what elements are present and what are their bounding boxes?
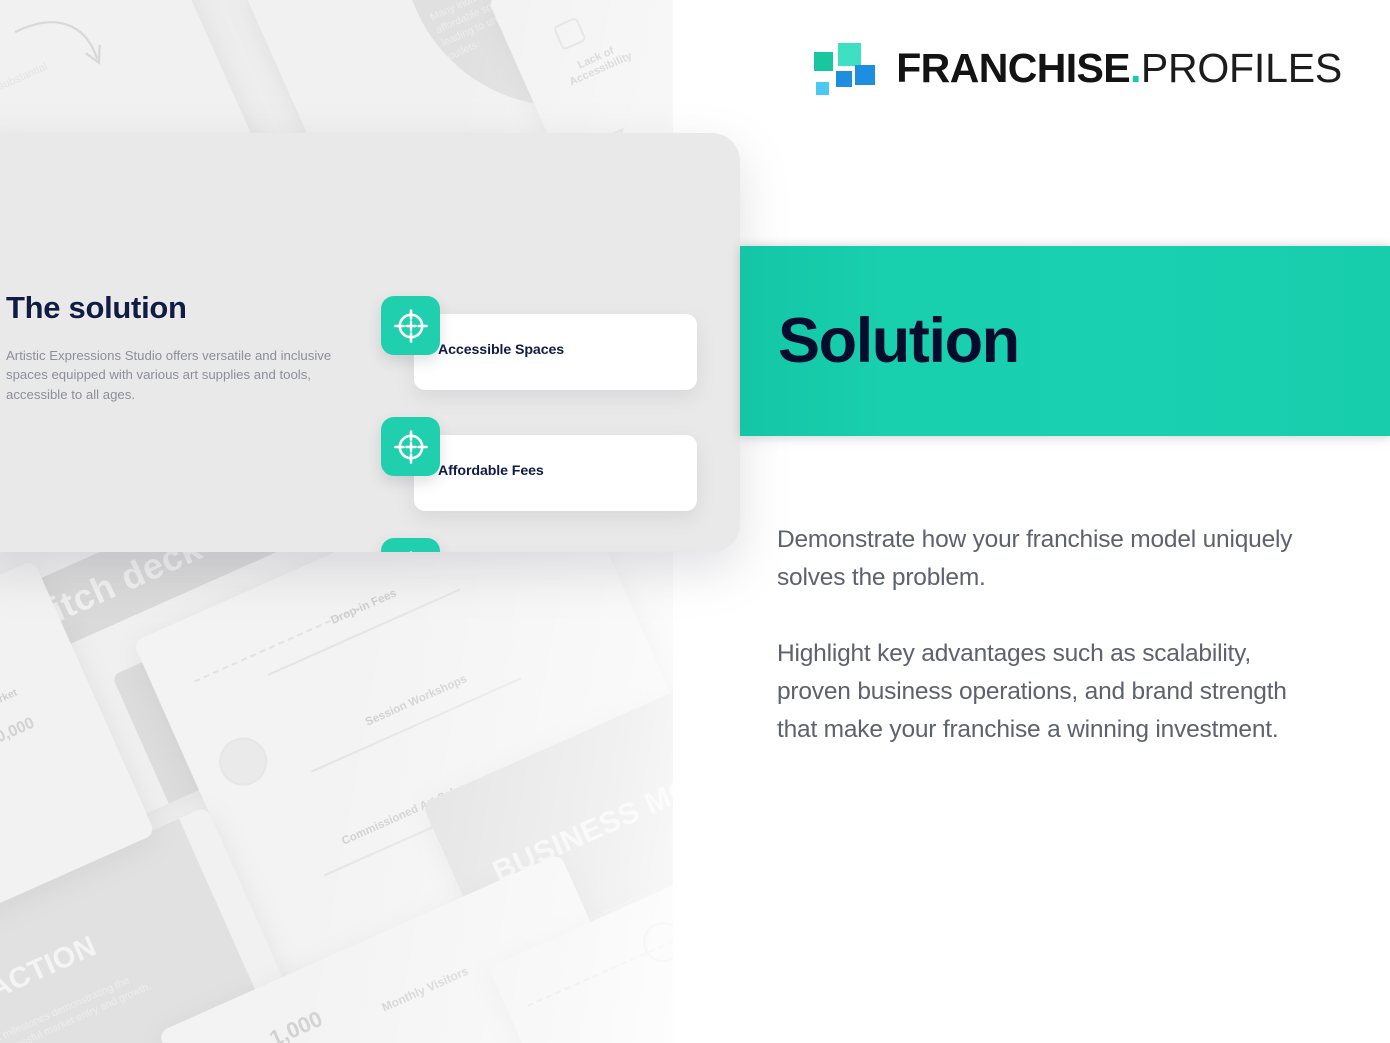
logo-square-mint <box>838 43 861 66</box>
bg-icon-accessibility <box>553 17 587 51</box>
logo-dot: . <box>1130 48 1141 89</box>
bg-metric-label-1: Monthly Visitors <box>380 964 471 1015</box>
logo-square-blue-large <box>855 65 875 85</box>
logo-word-bold: FRANCHISE <box>896 48 1130 89</box>
bg-pricing-icon <box>637 916 673 969</box>
logo-word-light: PROFILES <box>1141 48 1342 89</box>
bg-som-value: $50,000,000 <box>0 715 37 768</box>
target-crosshair-icon <box>381 296 440 355</box>
slide-preview-text-block: The solution Artistic Expressions Studio… <box>6 290 336 404</box>
slide-preview-heading: The solution <box>6 290 336 326</box>
logo-wordmark: FRANCHISE.PROFILES <box>896 48 1342 89</box>
feature-item[interactable]: Accessible Spaces <box>381 296 701 408</box>
slide-preview-card[interactable]: The solution Artistic Expressions Studio… <box>0 133 740 552</box>
target-crosshair-icon <box>381 538 440 552</box>
logo-square-cyan <box>816 82 829 95</box>
logo-square-blue-small <box>836 71 852 87</box>
slide-preview-body: Artistic Expressions Studio offers versa… <box>6 346 336 404</box>
description-paragraph-1: Demonstrate how your franchise model uni… <box>777 521 1317 597</box>
feature-label: Affordable Fees <box>438 463 544 479</box>
brand-logo[interactable]: FRANCHISE.PROFILES <box>814 38 1342 98</box>
feature-item[interactable]: Professional Guidance <box>381 538 701 552</box>
logo-square-teal-dark <box>814 52 833 71</box>
bg-rev-line-2 <box>311 677 522 772</box>
feature-item[interactable]: Affordable Fees <box>381 417 701 529</box>
bg-metric-value-1: 1,000 <box>266 1006 327 1043</box>
target-crosshair-icon <box>381 417 440 476</box>
bg-rev-label-2: Session Workshops <box>364 673 469 729</box>
bg-rev-coin-icon <box>211 730 274 793</box>
section-description: Demonstrate how your franchise model uni… <box>777 521 1317 749</box>
logo-mosaic-icon <box>814 38 874 98</box>
description-paragraph-2: Highlight key advantages such as scalabi… <box>777 635 1317 749</box>
section-banner: Solution <box>740 246 1390 436</box>
feature-label: Accessible Spaces <box>438 342 564 358</box>
page-title: Solution <box>778 310 1019 373</box>
